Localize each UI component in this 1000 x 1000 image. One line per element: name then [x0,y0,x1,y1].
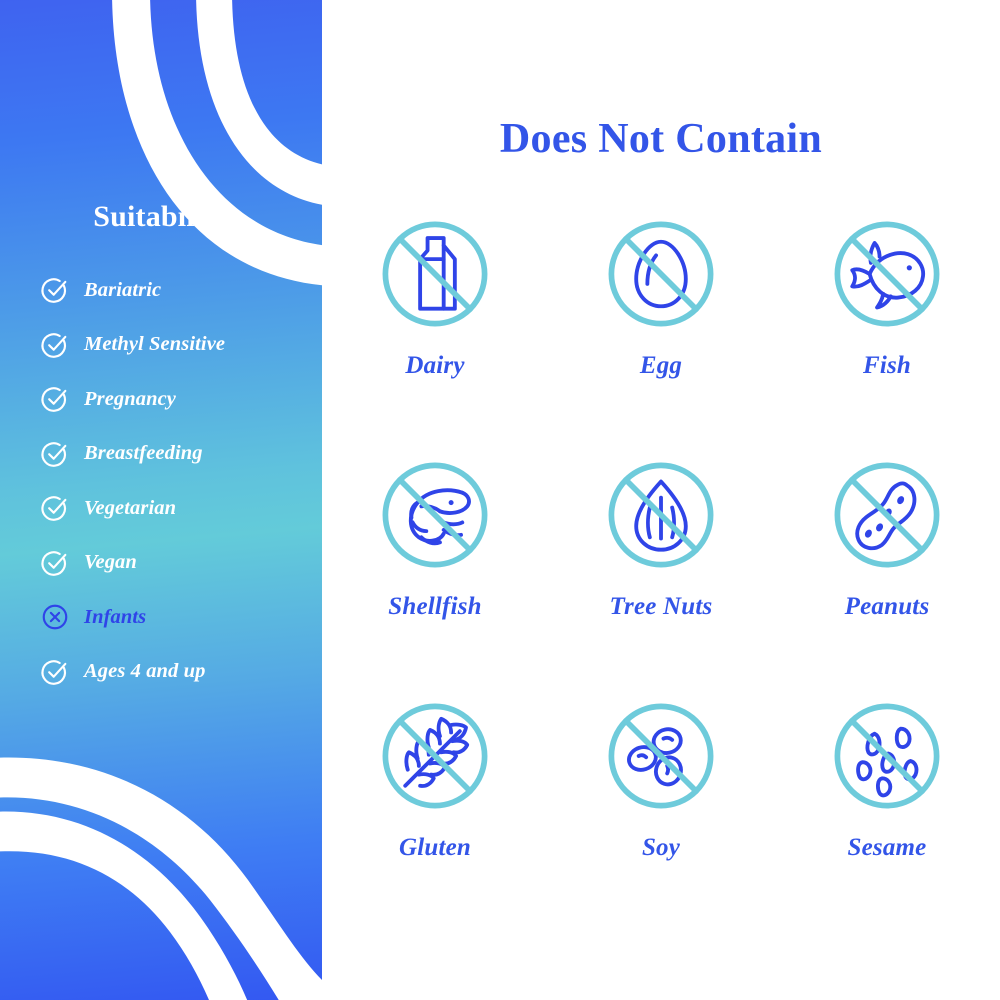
allergen-item-shellfish[interactable]: Shellfish [322,453,548,694]
suitability-item-methyl-sensitive[interactable]: Methyl Sensitive [40,318,322,373]
wave-bottom-inner [0,812,252,1000]
allergen-item-egg[interactable]: Egg [548,212,774,453]
allergen-label: Sesame [848,834,927,862]
allergen-item-gluten[interactable]: Gluten [322,694,548,935]
suitability-item-breastfeeding[interactable]: Breastfeeding [40,427,322,482]
allergen-item-fish[interactable]: Fish [774,212,1000,453]
check-circle-icon [40,493,70,523]
allergen-item-sesame[interactable]: Sesame [774,694,1000,935]
suitability-item-bariatric[interactable]: Bariatric [40,263,322,318]
suitability-item-label: Bariatric [84,279,161,302]
suitability-item-ages-4-and-up[interactable]: Ages 4 and up [40,645,322,700]
sesame-seeds-icon [825,694,949,818]
page-title: Does Not Contain [322,115,1000,163]
allergen-label: Soy [642,834,680,862]
check-circle-icon [40,657,70,687]
wave-top-inner [196,0,322,206]
check-circle-icon [40,548,70,578]
allergen-label: Gluten [399,834,471,862]
suitability-item-label: Ages 4 and up [84,660,205,683]
allergen-label: Dairy [405,352,464,380]
allergen-item-peanuts[interactable]: Peanuts [774,453,1000,694]
x-circle-icon [40,602,70,632]
peanut-icon [825,453,949,577]
check-circle-icon [40,439,70,469]
suitability-item-vegetarian[interactable]: Vegetarian [40,481,322,536]
infographic-page: Suitability Bariatric Methyl Sensitive [0,0,1000,1000]
fish-icon [825,212,949,336]
allergen-label: Shellfish [388,593,482,621]
shrimp-icon [373,453,497,577]
almond-icon [599,453,723,577]
suitability-item-label: Vegan [84,551,137,574]
suitability-item-label: Pregnancy [84,388,176,411]
egg-icon [599,212,723,336]
suitability-item-label: Methyl Sensitive [84,333,225,356]
suitability-item-infants[interactable]: Infants [40,590,322,645]
soybean-icon [599,694,723,818]
check-circle-icon [40,384,70,414]
check-circle-icon [40,330,70,360]
suitability-title: Suitability [0,200,322,234]
check-circle-icon [40,275,70,305]
suitability-list: Bariatric Methyl Sensitive Pregnancy [40,263,322,699]
suitability-item-vegan[interactable]: Vegan [40,536,322,591]
suitability-item-label: Breastfeeding [84,442,203,465]
wheat-icon [373,694,497,818]
allergen-item-soy[interactable]: Soy [548,694,774,935]
suitability-panel: Suitability Bariatric Methyl Sensitive [0,0,322,1000]
suitability-item-label: Vegetarian [84,497,176,520]
allergen-label: Tree Nuts [610,593,713,621]
allergen-label: Peanuts [845,593,930,621]
allergen-label: Egg [640,352,682,380]
allergen-item-tree-nuts[interactable]: Tree Nuts [548,453,774,694]
suitability-item-pregnancy[interactable]: Pregnancy [40,372,322,427]
allergen-item-dairy[interactable]: Dairy [322,212,548,453]
does-not-contain-panel: Does Not Contain Dairy [322,0,1000,1000]
suitability-item-label: Infants [84,606,146,629]
allergen-grid: Dairy Egg [322,212,1000,935]
allergen-label: Fish [863,352,911,380]
milk-carton-icon [373,212,497,336]
